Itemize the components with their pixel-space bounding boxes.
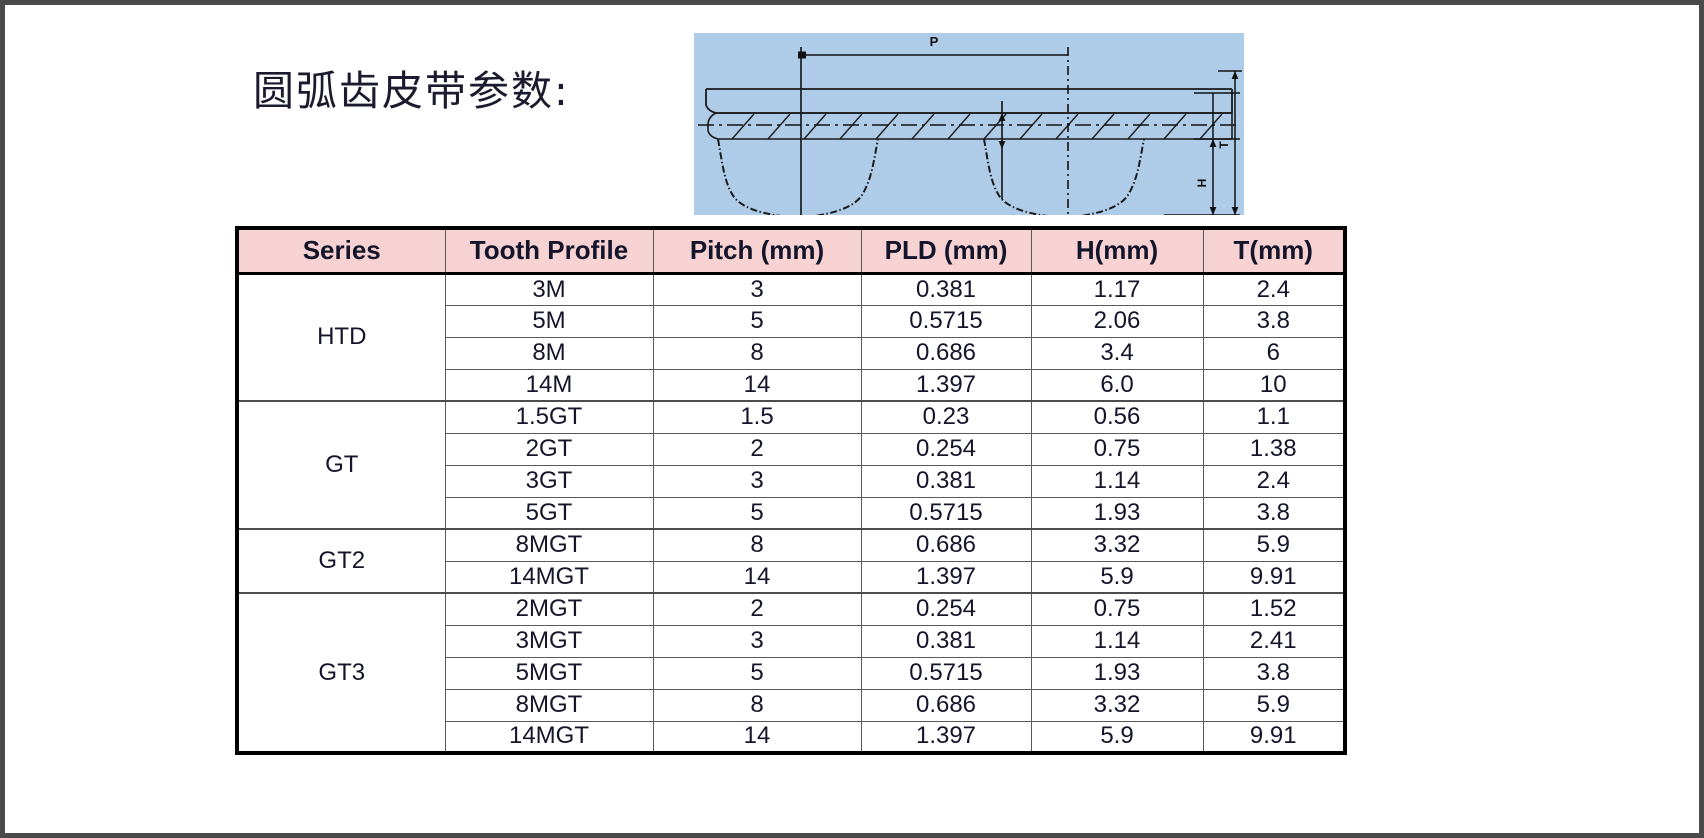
pld-cell: 0.686 (861, 529, 1031, 561)
t-cell: 1.1 (1203, 401, 1345, 433)
belt-parameters-table-container: Series Tooth Profile Pitch (mm) PLD (mm)… (235, 226, 1343, 755)
pld-cell: 0.254 (861, 433, 1031, 465)
t-cell: 3.8 (1203, 657, 1345, 689)
tooth-profile-cell: 5GT (445, 497, 653, 529)
pld-cell: 1.397 (861, 721, 1031, 753)
t-cell: 5.9 (1203, 529, 1345, 561)
t-cell: 2.4 (1203, 273, 1345, 305)
pitch-cell: 8 (653, 689, 861, 721)
h-cell: 5.9 (1031, 721, 1203, 753)
pitch-cell: 14 (653, 721, 861, 753)
pld-cell: 0.254 (861, 593, 1031, 625)
diagram-label-h: H (1195, 179, 1209, 188)
h-cell: 1.14 (1031, 465, 1203, 497)
belt-tooth-profile-diagram: P (694, 33, 1244, 215)
tooth-profile-cell: 1.5GT (445, 401, 653, 433)
h-cell: 1.93 (1031, 497, 1203, 529)
pitch-cell: 3 (653, 273, 861, 305)
tooth-profile-cell: 2MGT (445, 593, 653, 625)
pitch-cell: 14 (653, 561, 861, 593)
h-cell: 2.06 (1031, 305, 1203, 337)
h-cell: 1.17 (1031, 273, 1203, 305)
svg-text:P: P (930, 34, 939, 49)
pld-cell: 1.397 (861, 561, 1031, 593)
h-cell: 0.75 (1031, 433, 1203, 465)
pld-cell: 0.686 (861, 689, 1031, 721)
tooth-profile-cell: 5M (445, 305, 653, 337)
pld-cell: 0.5715 (861, 305, 1031, 337)
h-cell: 6.0 (1031, 369, 1203, 401)
h-cell: 3.32 (1031, 689, 1203, 721)
pld-cell: 1.397 (861, 369, 1031, 401)
t-cell: 3.8 (1203, 305, 1345, 337)
pitch-cell: 2 (653, 433, 861, 465)
pld-cell: 0.23 (861, 401, 1031, 433)
series-cell: HTD (237, 273, 445, 401)
h-cell: 0.75 (1031, 593, 1203, 625)
series-cell: GT2 (237, 529, 445, 593)
tooth-profile-cell: 3GT (445, 465, 653, 497)
t-cell: 1.38 (1203, 433, 1345, 465)
column-header-pitch: Pitch (mm) (653, 228, 861, 273)
tooth-profile-cell: 3M (445, 273, 653, 305)
t-cell: 5.9 (1203, 689, 1345, 721)
belt-parameters-table: Series Tooth Profile Pitch (mm) PLD (mm)… (235, 226, 1347, 755)
t-cell: 3.8 (1203, 497, 1345, 529)
h-cell: 3.4 (1031, 337, 1203, 369)
table-row: GT1.5GT1.50.230.561.1 (237, 401, 1345, 433)
table-header-row: Series Tooth Profile Pitch (mm) PLD (mm)… (237, 228, 1345, 273)
table-row: GT32MGT20.2540.751.52 (237, 593, 1345, 625)
tooth-profile-cell: 14MGT (445, 721, 653, 753)
tooth-profile-cell: 8M (445, 337, 653, 369)
pitch-cell: 8 (653, 529, 861, 561)
tooth-profile-cell: 3MGT (445, 625, 653, 657)
column-header-series: Series (237, 228, 445, 273)
tooth-profile-cell: 8MGT (445, 529, 653, 561)
t-cell: 6 (1203, 337, 1345, 369)
table-body: HTD3M30.3811.172.45M50.57152.063.88M80.6… (237, 273, 1345, 753)
t-cell: 2.4 (1203, 465, 1345, 497)
t-cell: 1.52 (1203, 593, 1345, 625)
pld-cell: 0.381 (861, 465, 1031, 497)
t-cell: 9.91 (1203, 721, 1345, 753)
table-row: HTD3M30.3811.172.4 (237, 273, 1345, 305)
tooth-profile-cell: 14MGT (445, 561, 653, 593)
h-cell: 5.9 (1031, 561, 1203, 593)
series-cell: GT (237, 401, 445, 529)
tooth-profile-cell: 5MGT (445, 657, 653, 689)
column-header-tooth-profile: Tooth Profile (445, 228, 653, 273)
pld-cell: 0.686 (861, 337, 1031, 369)
pitch-cell: 5 (653, 305, 861, 337)
tooth-profile-cell: 14M (445, 369, 653, 401)
pitch-cell: 3 (653, 625, 861, 657)
series-cell: GT3 (237, 593, 445, 753)
pitch-cell: 2 (653, 593, 861, 625)
diagram-label-t: T (1217, 141, 1231, 149)
pitch-cell: 5 (653, 497, 861, 529)
column-header-h: H(mm) (1031, 228, 1203, 273)
page-title: 圆弧齿皮带参数: (253, 57, 570, 117)
table-row: GT28MGT80.6863.325.9 (237, 529, 1345, 561)
column-header-t: T(mm) (1203, 228, 1345, 273)
pitch-cell: 3 (653, 465, 861, 497)
pitch-cell: 5 (653, 657, 861, 689)
tooth-profile-cell: 8MGT (445, 689, 653, 721)
t-cell: 10 (1203, 369, 1345, 401)
h-cell: 1.93 (1031, 657, 1203, 689)
column-header-pld: PLD (mm) (861, 228, 1031, 273)
pld-cell: 0.381 (861, 273, 1031, 305)
document-page: 圆弧齿皮带参数: P (0, 0, 1704, 838)
tooth-profile-cell: 2GT (445, 433, 653, 465)
pld-cell: 0.5715 (861, 497, 1031, 529)
pld-cell: 0.5715 (861, 657, 1031, 689)
pld-cell: 0.381 (861, 625, 1031, 657)
t-cell: 2.41 (1203, 625, 1345, 657)
pitch-cell: 8 (653, 337, 861, 369)
pitch-cell: 1.5 (653, 401, 861, 433)
h-cell: 3.32 (1031, 529, 1203, 561)
h-cell: 1.14 (1031, 625, 1203, 657)
h-cell: 0.56 (1031, 401, 1203, 433)
t-cell: 9.91 (1203, 561, 1345, 593)
pitch-cell: 14 (653, 369, 861, 401)
